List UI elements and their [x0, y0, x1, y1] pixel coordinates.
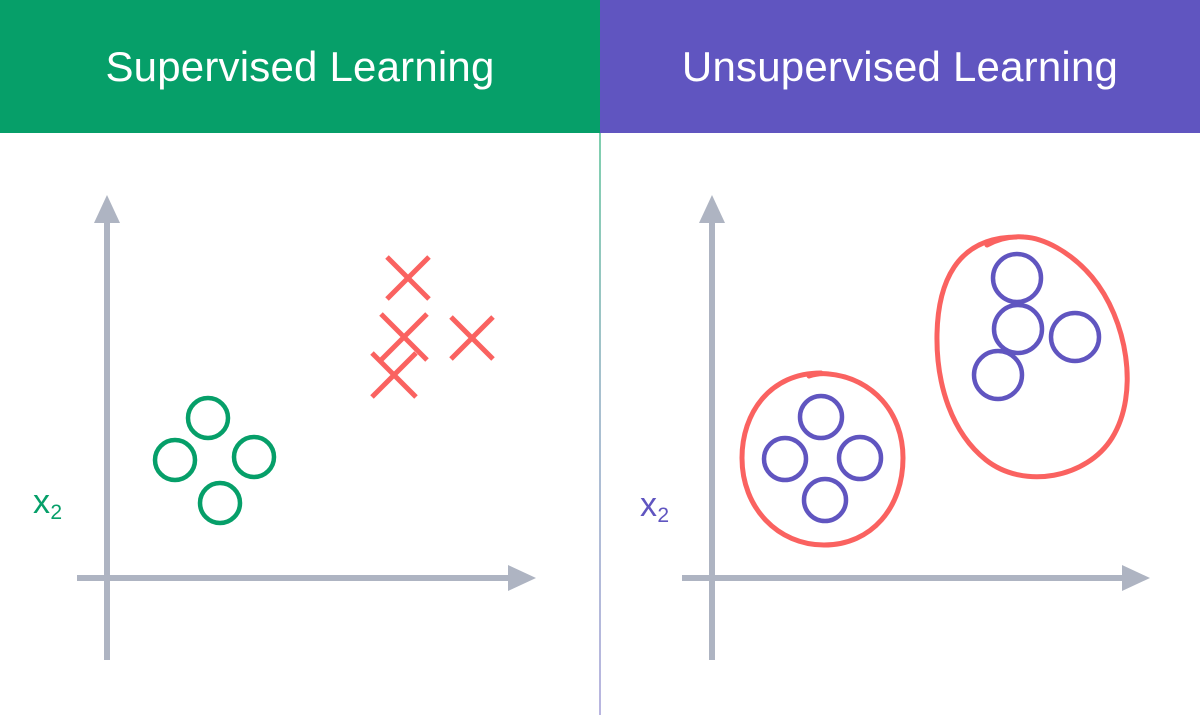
data-point-cross	[372, 353, 416, 397]
x-axis-arrow-icon	[1122, 565, 1150, 591]
data-point-circle	[1051, 313, 1099, 361]
data-point-circle	[234, 437, 274, 477]
data-point-circle	[764, 438, 806, 480]
cluster-lasso-upper-right	[937, 237, 1127, 477]
y-axis-label-right: x2	[640, 488, 669, 522]
header-supervised: Supervised Learning	[0, 0, 600, 133]
header-supervised-title: Supervised Learning	[105, 46, 494, 88]
x-axis-arrow-icon	[508, 565, 536, 591]
panel-supervised: x2 x1	[0, 133, 600, 715]
header-unsupervised: Unsupervised Learning	[600, 0, 1200, 133]
data-point-circle	[994, 305, 1042, 353]
data-point-cross	[451, 317, 493, 359]
data-point-circle	[800, 396, 842, 438]
data-point-circle	[804, 479, 846, 521]
y-axis-arrow-icon	[699, 195, 725, 223]
y-axis-label-left-text: x	[33, 483, 50, 521]
y-axis-label-right-subscript: 2	[657, 504, 669, 527]
data-point-circle	[200, 483, 240, 523]
data-point-circle	[155, 440, 195, 480]
panel-unsupervised: x2 x1	[600, 133, 1200, 715]
cluster-lower-left-points	[764, 396, 881, 521]
y-axis-label-left: x2	[33, 485, 62, 519]
data-point-circle	[993, 254, 1041, 302]
y-axis-arrow-icon	[94, 195, 120, 223]
supervised-plot	[0, 133, 600, 715]
axis-group-left	[77, 195, 536, 660]
data-point-cross	[381, 314, 427, 360]
unsupervised-plot	[600, 133, 1200, 715]
infographic-canvas: Supervised Learning Unsupervised Learnin…	[0, 0, 1200, 715]
data-point-circle	[974, 351, 1022, 399]
supervised-cross-group	[372, 257, 493, 397]
data-point-circle	[188, 398, 228, 438]
cluster-upper-right-points	[974, 254, 1099, 399]
header-row: Supervised Learning Unsupervised Learnin…	[0, 0, 1200, 133]
y-axis-label-left-subscript: 2	[50, 501, 62, 524]
y-axis-label-right-text: x	[640, 486, 657, 524]
supervised-circle-group	[155, 398, 274, 523]
data-point-circle	[839, 437, 881, 479]
header-unsupervised-title: Unsupervised Learning	[682, 46, 1118, 88]
data-point-cross	[387, 257, 429, 299]
